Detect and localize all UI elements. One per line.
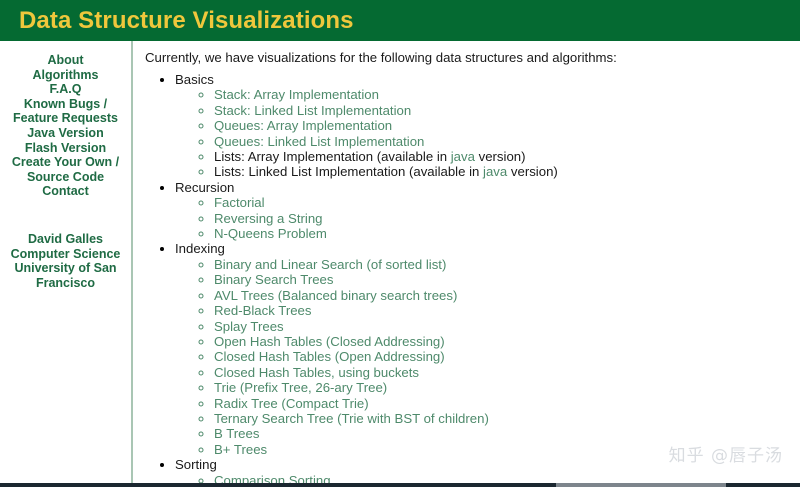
list-item[interactable]: Splay Trees xyxy=(214,319,800,334)
list-item[interactable]: Queues: Linked List Implementation xyxy=(214,134,800,149)
list-item[interactable]: Closed Hash Tables, using buckets xyxy=(214,365,800,380)
sidebar-item-known-bugs[interactable]: Known Bugs / Feature Requests xyxy=(4,97,127,126)
horizontal-scrollbar-track[interactable] xyxy=(0,483,800,487)
link-avl-trees[interactable]: AVL Trees (Balanced binary search trees) xyxy=(214,288,457,303)
sidebar-item-faq[interactable]: F.A.Q xyxy=(4,82,127,97)
sidebar-link-about[interactable]: About xyxy=(4,53,127,68)
basics-item-list: Stack: Array Implementation Stack: Linke… xyxy=(175,87,800,179)
link-lists-array-java[interactable]: java xyxy=(451,149,475,164)
link-open-hash-tables[interactable]: Open Hash Tables (Closed Addressing) xyxy=(214,334,445,349)
link-binary-and-linear-search[interactable]: Binary and Linear Search (of sorted list… xyxy=(214,257,446,272)
text-lists-array-suffix: version) xyxy=(475,149,526,164)
category-recursion: Recursion Factorial Reversing a String N… xyxy=(175,180,800,242)
list-item[interactable]: Closed Hash Tables (Open Addressing) xyxy=(214,349,800,364)
sidebar-link-source-code[interactable]: Source Code xyxy=(4,170,127,185)
sidebar-item-flash-version[interactable]: Flash Version xyxy=(4,141,127,156)
category-label-indexing: Indexing xyxy=(175,241,225,256)
page-title: Data Structure Visualizations xyxy=(19,9,354,33)
author-department: Computer Science xyxy=(4,247,127,262)
text-lists-linked-suffix: version) xyxy=(507,164,558,179)
sidebar-link-create-your-own[interactable]: Create Your Own / xyxy=(4,155,127,170)
link-n-queens-problem[interactable]: N-Queens Problem xyxy=(214,226,327,241)
list-item[interactable]: B+ Trees xyxy=(214,442,800,457)
sidebar-item-create-your-own[interactable]: Create Your Own / xyxy=(4,155,127,170)
list-item[interactable]: Open Hash Tables (Closed Addressing) xyxy=(214,334,800,349)
sidebar-link-known-bugs[interactable]: Known Bugs / Feature Requests xyxy=(4,97,127,126)
sidebar-item-contact[interactable]: Contact xyxy=(4,184,127,199)
category-basics: Basics Stack: Array Implementation Stack… xyxy=(175,72,800,180)
link-radix-tree[interactable]: Radix Tree (Compact Trie) xyxy=(214,396,369,411)
list-item[interactable]: Reversing a String xyxy=(214,211,800,226)
category-label-sorting: Sorting xyxy=(175,457,217,472)
sidebar-nav-list: About Algorithms F.A.Q Known Bugs / Feat… xyxy=(4,53,127,199)
link-b-plus-trees[interactable]: B+ Trees xyxy=(214,442,267,457)
sidebar-link-flash-version[interactable]: Flash Version xyxy=(4,141,127,156)
horizontal-scrollbar-thumb[interactable] xyxy=(556,483,726,487)
list-item[interactable]: AVL Trees (Balanced binary search trees) xyxy=(214,288,800,303)
category-label-recursion: Recursion xyxy=(175,180,234,195)
author-university-line2: Francisco xyxy=(4,276,127,291)
category-indexing: Indexing Binary and Linear Search (of so… xyxy=(175,241,800,457)
sidebar-link-java-version[interactable]: Java Version xyxy=(4,126,127,141)
sidebar-item-source-code[interactable]: Source Code xyxy=(4,170,127,185)
author-credit: David Galles Computer Science University… xyxy=(4,232,127,290)
list-item[interactable]: B Trees xyxy=(214,426,800,441)
list-item[interactable]: Radix Tree (Compact Trie) xyxy=(214,396,800,411)
list-item[interactable]: Binary and Linear Search (of sorted list… xyxy=(214,257,800,272)
link-splay-trees[interactable]: Splay Trees xyxy=(214,319,284,334)
text-lists-array-prefix: Lists: Array Implementation (available i… xyxy=(214,149,451,164)
list-item[interactable]: Queues: Array Implementation xyxy=(214,118,800,133)
author-name: David Galles xyxy=(4,232,127,247)
intro-paragraph: Currently, we have visualizations for th… xyxy=(145,50,800,66)
link-trie[interactable]: Trie (Prefix Tree, 26-ary Tree) xyxy=(214,380,387,395)
sidebar-item-algorithms[interactable]: Algorithms xyxy=(4,68,127,83)
list-item[interactable]: Factorial xyxy=(214,195,800,210)
author-university-line1: University of San xyxy=(4,261,127,276)
recursion-item-list: Factorial Reversing a String N-Queens Pr… xyxy=(175,195,800,241)
list-item[interactable]: Binary Search Trees xyxy=(214,272,800,287)
sidebar-link-algorithms[interactable]: Algorithms xyxy=(4,68,127,83)
list-item[interactable]: Trie (Prefix Tree, 26-ary Tree) xyxy=(214,380,800,395)
link-queues-array[interactable]: Queues: Array Implementation xyxy=(214,118,392,133)
link-queues-linked-list[interactable]: Queues: Linked List Implementation xyxy=(214,134,424,149)
list-item[interactable]: Ternary Search Tree (Trie with BST of ch… xyxy=(214,411,800,426)
link-red-black-trees[interactable]: Red-Black Trees xyxy=(214,303,311,318)
category-label-basics: Basics xyxy=(175,72,214,87)
visualization-category-list: Basics Stack: Array Implementation Stack… xyxy=(145,72,800,487)
sidebar-item-java-version[interactable]: Java Version xyxy=(4,126,127,141)
list-item: Lists: Linked List Implementation (avail… xyxy=(214,164,800,179)
link-b-trees[interactable]: B Trees xyxy=(214,426,259,441)
link-closed-hash-tables-buckets[interactable]: Closed Hash Tables, using buckets xyxy=(214,365,419,380)
list-item[interactable]: Stack: Array Implementation xyxy=(214,87,800,102)
link-closed-hash-tables[interactable]: Closed Hash Tables (Open Addressing) xyxy=(214,349,445,364)
list-item: Lists: Array Implementation (available i… xyxy=(214,149,800,164)
list-item[interactable]: Red-Black Trees xyxy=(214,303,800,318)
page-banner: Data Structure Visualizations xyxy=(0,0,800,41)
main-content: Currently, we have visualizations for th… xyxy=(133,41,800,487)
list-item[interactable]: N-Queens Problem xyxy=(214,226,800,241)
sidebar-link-faq[interactable]: F.A.Q xyxy=(4,82,127,97)
link-stack-linked-list[interactable]: Stack: Linked List Implementation xyxy=(214,103,411,118)
link-ternary-search-tree[interactable]: Ternary Search Tree (Trie with BST of ch… xyxy=(214,411,489,426)
sidebar-item-about[interactable]: About xyxy=(4,53,127,68)
sidebar: About Algorithms F.A.Q Known Bugs / Feat… xyxy=(0,41,133,487)
indexing-item-list: Binary and Linear Search (of sorted list… xyxy=(175,257,800,457)
list-item[interactable]: Stack: Linked List Implementation xyxy=(214,103,800,118)
link-factorial[interactable]: Factorial xyxy=(214,195,265,210)
link-reversing-a-string[interactable]: Reversing a String xyxy=(214,211,322,226)
text-lists-linked-prefix: Lists: Linked List Implementation (avail… xyxy=(214,164,483,179)
sidebar-link-contact[interactable]: Contact xyxy=(4,184,127,199)
link-binary-search-trees[interactable]: Binary Search Trees xyxy=(214,272,333,287)
link-stack-array[interactable]: Stack: Array Implementation xyxy=(214,87,379,102)
page-body: About Algorithms F.A.Q Known Bugs / Feat… xyxy=(0,41,800,487)
link-lists-linked-java[interactable]: java xyxy=(483,164,507,179)
